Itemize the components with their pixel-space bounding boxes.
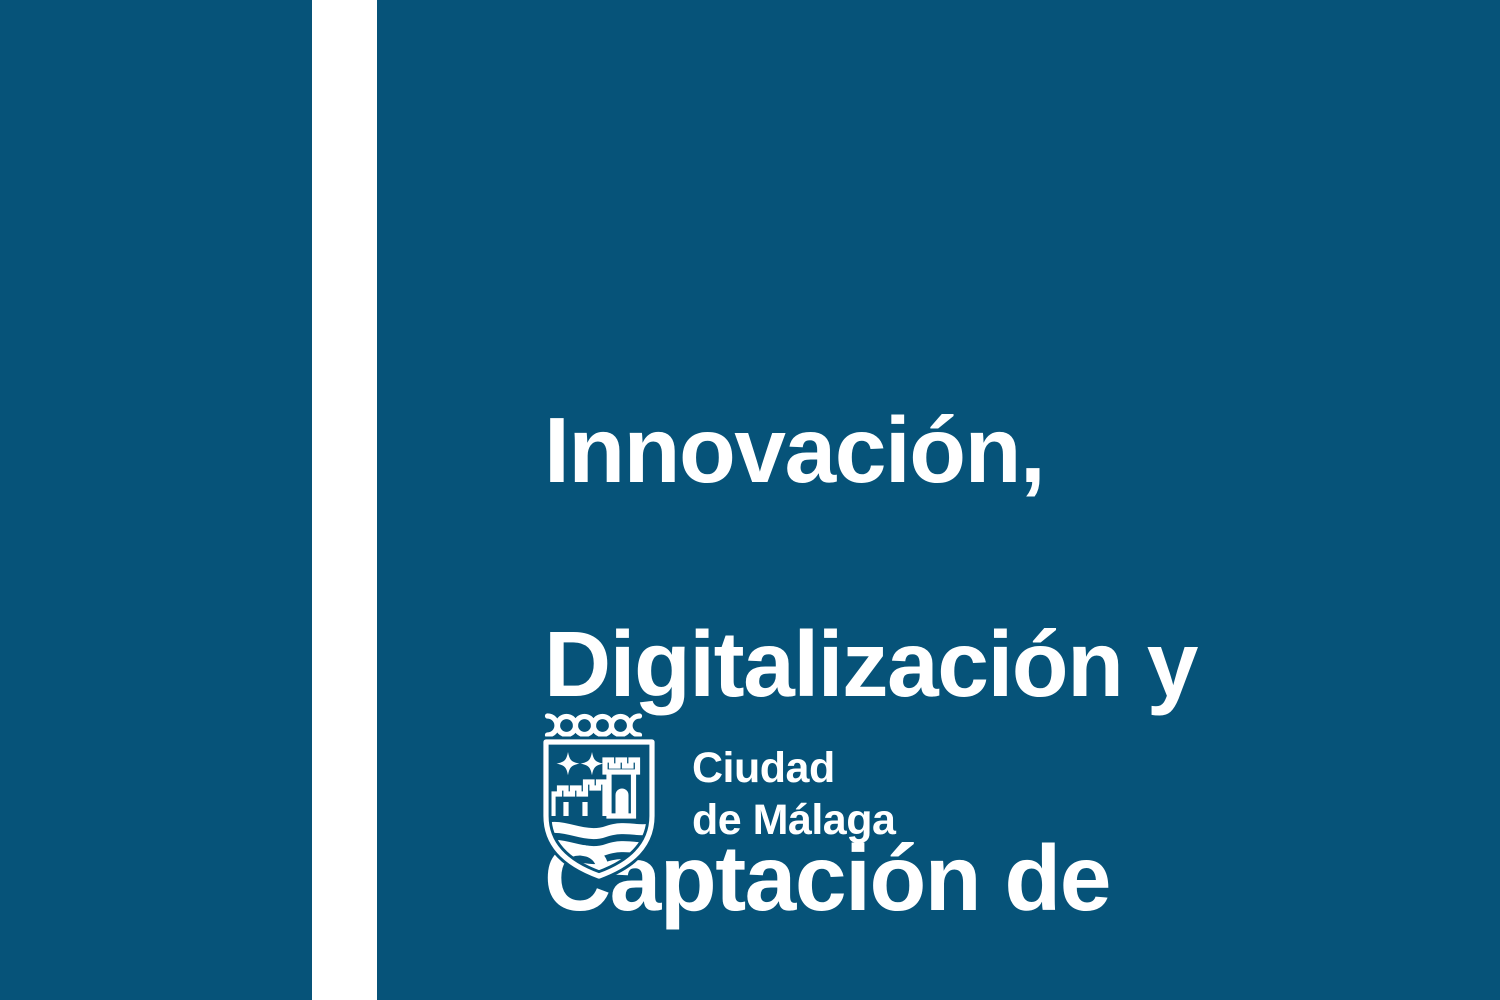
title-line-2: Digitalización y bbox=[544, 611, 1344, 718]
wordmark-line-1: Ciudad bbox=[692, 742, 895, 794]
vertical-white-stripe bbox=[312, 0, 377, 1000]
slide-canvas: Innovación, Digitalización y Captación d… bbox=[0, 0, 1500, 1000]
malaga-logo-lockup: Ciudad de Málaga bbox=[540, 712, 895, 880]
title-line-1: Innovación, bbox=[544, 397, 1344, 504]
wordmark-line-2: de Málaga bbox=[692, 794, 895, 846]
left-blue-band bbox=[0, 0, 312, 1000]
malaga-wordmark: Ciudad de Málaga bbox=[692, 742, 895, 850]
malaga-coat-of-arms-icon bbox=[540, 712, 658, 880]
page-title: Innovación, Digitalización y Captación d… bbox=[544, 290, 1344, 1000]
